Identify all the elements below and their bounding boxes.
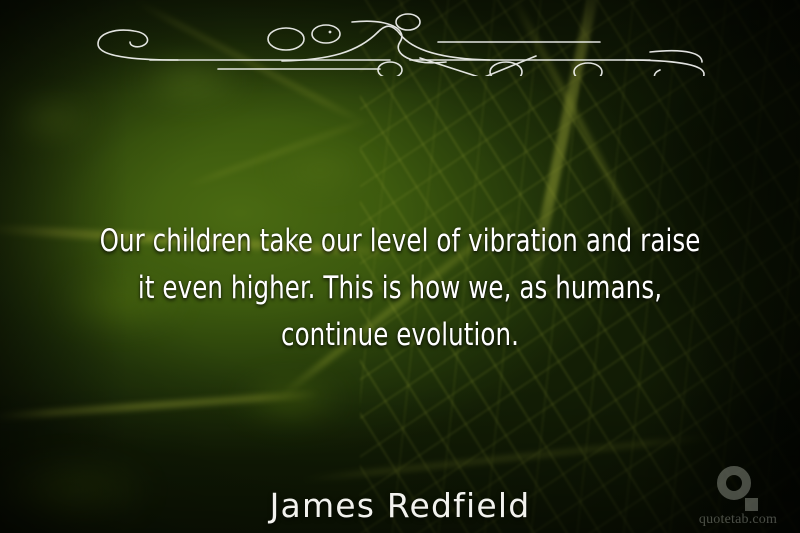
quotetab-q-logo-icon xyxy=(714,466,762,511)
logo-tail xyxy=(745,498,758,511)
quote-author: James Redfield xyxy=(0,486,800,525)
logo-ring xyxy=(717,466,751,500)
quote-card: Our children take our level of vibration… xyxy=(0,0,800,533)
flourish-ornament-icon xyxy=(90,8,710,76)
quote-text: Our children take our level of vibration… xyxy=(92,218,708,359)
site-watermark[interactable]: quotetab.com xyxy=(690,466,786,527)
watermark-site-label: quotetab.com xyxy=(690,513,786,527)
